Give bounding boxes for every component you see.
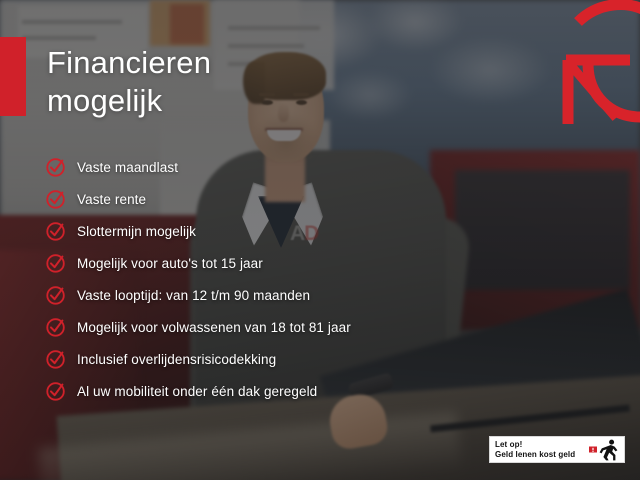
list-item-label: Inclusief overlijdensrisicodekking: [77, 352, 276, 367]
check-circle-icon: [45, 156, 67, 178]
walking-person-icon: [599, 439, 619, 461]
check-circle-icon: [45, 316, 67, 338]
list-item-label: Vaste rente: [77, 192, 146, 207]
warning-line-1: Let op!: [495, 440, 522, 449]
red-warning-square-icon: [589, 445, 598, 454]
finance-promo-banner: AD Financieren mogelijk Vaste maandlast: [0, 0, 640, 480]
list-item: Vaste looptijd: van 12 t/m 90 maanden: [45, 279, 465, 311]
check-circle-icon: [45, 252, 67, 274]
check-circle-icon: [45, 220, 67, 242]
list-item: Vaste maandlast: [45, 151, 465, 183]
list-item-label: Slottermijn mogelijk: [77, 224, 196, 239]
check-circle-icon: [45, 188, 67, 210]
check-circle-icon: [45, 348, 67, 370]
list-item-label: Mogelijk voor volwassenen van 18 tot 81 …: [77, 320, 351, 335]
list-item: Vaste rente: [45, 183, 465, 215]
list-item: Inclusief overlijdensrisicodekking: [45, 343, 465, 375]
list-item-label: Vaste maandlast: [77, 160, 178, 175]
check-circle-icon: [45, 284, 67, 306]
warning-line-2: Geld lenen kost geld: [495, 450, 575, 460]
title-line-2: mogelijk: [47, 82, 467, 120]
page-title: Financieren mogelijk: [47, 44, 467, 120]
warning-icons: [589, 439, 619, 461]
check-circle-icon: [45, 380, 67, 402]
title-line-1: Financieren: [47, 45, 211, 80]
list-item: Slottermijn mogelijk: [45, 215, 465, 247]
list-item: Mogelijk voor volwassenen van 18 tot 81 …: [45, 311, 465, 343]
warning-text: Let op! Geld lenen kost geld: [495, 440, 575, 460]
status-badge: Let op! Geld lenen kost geld: [489, 436, 625, 463]
red-accent-block: [0, 37, 26, 116]
list-item-label: Vaste looptijd: van 12 t/m 90 maanden: [77, 288, 310, 303]
list-item: Mogelijk voor auto's tot 15 jaar: [45, 247, 465, 279]
list-item: Al uw mobiliteit onder één dak geregeld: [45, 375, 465, 407]
list-item-label: Al uw mobiliteit onder één dak geregeld: [77, 384, 317, 399]
benefits-checklist: Vaste maandlast Vaste rente Slottermijn …: [45, 151, 465, 407]
list-item-label: Mogelijk voor auto's tot 15 jaar: [77, 256, 263, 271]
